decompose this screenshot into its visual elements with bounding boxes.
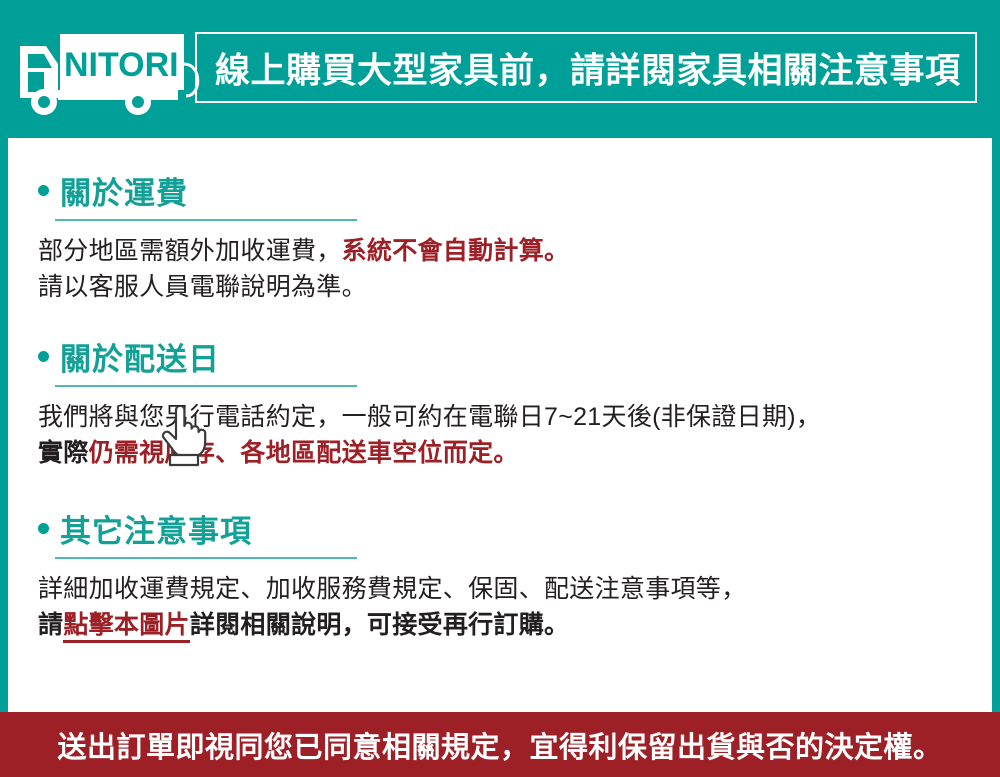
section-heading: 其它注意事項	[38, 508, 746, 548]
body-line: 請點擊本圖片詳閱相關說明，可接受再行訂購。	[38, 607, 746, 643]
body-line: 詳細加收運費規定、加收服務費規定、保固、配送注意事項等，	[38, 571, 746, 607]
text-run: 我們將與您另行電話約定，一般可約在電聯日7~21天後(非保證日期)，	[38, 403, 821, 431]
text-run: 實際	[38, 439, 89, 467]
nitori-wordmark: NITORI	[64, 46, 179, 84]
bullet-icon	[38, 185, 49, 196]
banner-header: NITORI 線上購買大型家具前，請詳閱家具相關注意事項	[0, 0, 1000, 138]
header-title: 線上購買大型家具前，請詳閱家具相關注意事項	[215, 42, 961, 93]
bullet-icon	[38, 351, 49, 362]
click-image-link[interactable]: 點擊本圖片	[63, 611, 190, 643]
section-body: 詳細加收運費規定、加收服務費規定、保固、配送注意事項等， 請點擊本圖片詳閱相關說…	[38, 571, 746, 643]
text-run: 請	[38, 611, 63, 639]
footer-bar: 送出訂單即視同您已同意相關規定，宜得利保留出貨與否的決定權。	[0, 712, 1000, 777]
text-run: 詳閱相關說明，可接受再行訂購。	[190, 611, 570, 639]
section-shipping-fee: 關於運費 部分地區需額外加收運費，系統不會自動計算。 請以客服人員電聯說明為準。	[38, 170, 569, 305]
bullet-icon	[38, 523, 49, 534]
section-divider	[55, 557, 357, 559]
section-title: 關於運費	[60, 168, 188, 213]
section-heading: 關於運費	[38, 170, 569, 210]
section-other-notices: 其它注意事項 詳細加收運費規定、加收服務費規定、保固、配送注意事項等， 請點擊本…	[38, 508, 746, 643]
section-divider	[55, 219, 357, 221]
body-line: 部分地區需額外加收運費，系統不會自動計算。	[38, 233, 569, 269]
text-run: 部分地區需額外加收運費，	[38, 237, 342, 265]
footer-text: 送出訂單即視同您已同意相關規定，宜得利保留出貨與否的決定權。	[57, 724, 942, 766]
text-run: 請以客服人員電聯說明為準。	[38, 273, 367, 301]
section-title: 關於配送日	[60, 334, 220, 379]
section-divider	[55, 385, 357, 387]
emphasis-text: 系統不會自動計算。	[342, 237, 570, 265]
body-line: 實際仍需視庫存、各地區配送車空位而定。	[38, 435, 821, 471]
pointing-hand-cursor-icon	[158, 406, 212, 468]
content-panel: 關於運費 部分地區需額外加收運費，系統不會自動計算。 請以客服人員電聯說明為準。…	[8, 138, 992, 712]
text-run: 詳細加收運費規定、加收服務費規定、保固、配送注意事項等，	[38, 575, 746, 603]
section-body: 部分地區需額外加收運費，系統不會自動計算。 請以客服人員電聯說明為準。	[38, 233, 569, 305]
emphasis-text: 仍需視庫存、各地區配送車空位而定。	[89, 439, 519, 467]
nitori-truck-logo: NITORI	[16, 30, 206, 120]
section-delivery-date: 關於配送日 我們將與您另行電話約定，一般可約在電聯日7~21天後(非保證日期)，…	[38, 336, 821, 471]
section-heading: 關於配送日	[38, 336, 821, 376]
body-line: 請以客服人員電聯說明為準。	[38, 269, 569, 305]
body-line: 我們將與您另行電話約定，一般可約在電聯日7~21天後(非保證日期)，	[38, 399, 821, 435]
section-title: 其它注意事項	[60, 506, 252, 551]
header-title-box: 線上購買大型家具前，請詳閱家具相關注意事項	[195, 32, 977, 103]
section-body: 我們將與您另行電話約定，一般可約在電聯日7~21天後(非保證日期)， 實際仍需視…	[38, 399, 821, 471]
notice-banner: NITORI 線上購買大型家具前，請詳閱家具相關注意事項 關於運費 部分地區需額…	[0, 0, 1000, 777]
